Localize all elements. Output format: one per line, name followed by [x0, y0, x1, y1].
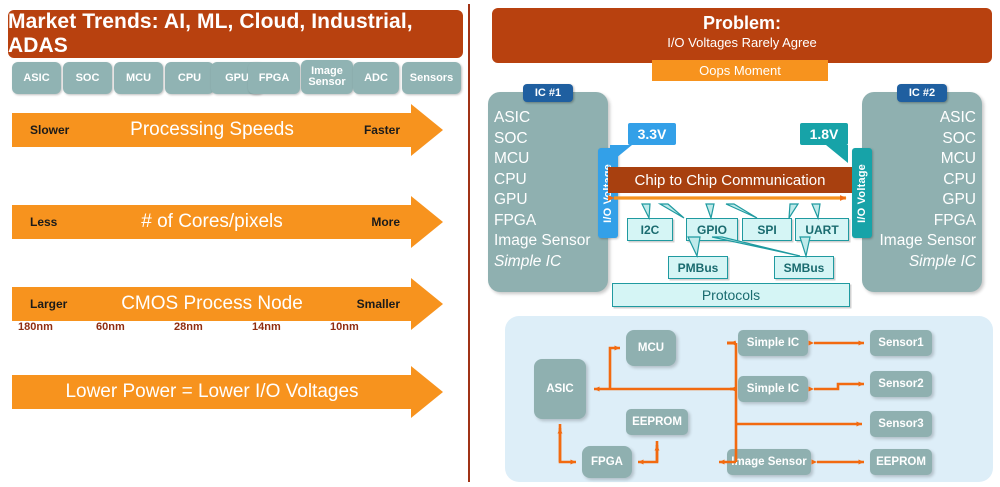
block-asic: ASIC: [534, 359, 586, 419]
ic2-badge: IC #2: [897, 84, 947, 102]
protocols-summary-box: Protocols: [612, 283, 850, 307]
tech-chip-adc: ADC: [353, 62, 399, 94]
block-image-sensor: Image Sensor: [727, 449, 811, 475]
arrow-title: # of Cores/pixels: [12, 205, 412, 239]
ic2-item-simple-ic: Simple IC: [860, 252, 976, 273]
tech-chip-label: ASIC: [23, 73, 49, 84]
ic1-component-list: ASICSOCMCUCPUGPUFPGAImage SensorSimple I…: [494, 108, 610, 272]
chip-to-chip-bar: Chip to Chip Communication: [608, 167, 852, 193]
problem-subtitle: I/O Voltages Rarely Agree: [492, 34, 992, 51]
tech-chip-label: Sensors: [410, 73, 453, 84]
block-mcu: MCU: [626, 330, 676, 366]
arrow-right-label: More: [371, 205, 400, 239]
arrow-left-label: Less: [30, 205, 57, 239]
tech-chip-image-sensor: ImageSensor: [301, 60, 353, 94]
voltage-callout-right-tail: [826, 145, 848, 163]
arrow-left-label: Slower: [30, 113, 69, 147]
ic1-item-simple-ic: Simple IC: [494, 252, 610, 273]
protocol-box-uart: UART: [795, 218, 849, 241]
ic2-item-cpu: CPU: [860, 170, 976, 191]
protocol-box-gpio: GPIO: [686, 218, 738, 241]
tech-chip-asic: ASIC: [12, 62, 61, 94]
tech-chip-mcu: MCU: [114, 62, 163, 94]
market-trends-title: Market Trends: AI, ML, Cloud, Industrial…: [8, 10, 463, 58]
arrow-right-label: Faster: [364, 113, 400, 147]
arrow-title: CMOS Process Node: [12, 287, 412, 321]
ic2-io-voltage-label: I/O Voltage: [856, 164, 868, 223]
problem-title: Problem:: [492, 13, 992, 34]
process-node-value: 60nm: [96, 321, 125, 333]
trend-arrow-lower-power: Lower Power = Lower I/O Voltages: [12, 375, 446, 409]
ic1-badge: IC #1: [523, 84, 573, 102]
tech-chip-sensors: Sensors: [402, 62, 461, 94]
protocol-box-spi: SPI: [742, 218, 792, 241]
ic2-item-gpu: GPU: [860, 190, 976, 211]
block-fpga: FPGA: [582, 446, 632, 478]
block-sensor1: Sensor1: [870, 330, 932, 356]
ic2-item-soc: SOC: [860, 129, 976, 150]
voltage-callout-left-tail: [610, 145, 632, 163]
oops-moment-badge: Oops Moment: [652, 60, 828, 81]
ic1-item-fpga: FPGA: [494, 211, 610, 232]
arrow-head: [411, 366, 443, 418]
block-simple-ic-1: Simple IC: [738, 330, 808, 356]
block-simple-ic-2: Simple IC: [738, 376, 808, 402]
tech-chip-label: SOC: [76, 73, 100, 84]
ic1-item-asic: ASIC: [494, 108, 610, 129]
trend-arrow-cmos-process-node: CMOS Process NodeLargerSmaller: [12, 287, 446, 321]
trend-arrow-processing-speeds: Processing SpeedsSlowerFaster: [12, 113, 446, 147]
market-trends-header: Market Trends: AI, ML, Cloud, Industrial…: [8, 10, 463, 58]
tech-chip-label: MCU: [126, 73, 151, 84]
voltage-callout-left: 3.3V: [628, 123, 676, 145]
ic2-item-mcu: MCU: [860, 149, 976, 170]
tech-chip-soc: SOC: [63, 62, 112, 94]
slide-canvas: Market Trends: AI, ML, Cloud, Industrial…: [0, 0, 1000, 487]
tech-chip-label: GPU: [225, 73, 249, 84]
arrow-left-label: Larger: [30, 287, 67, 321]
process-node-value: 28nm: [174, 321, 203, 333]
ic1-item-cpu: CPU: [494, 170, 610, 191]
tech-chip-label: CPU: [178, 73, 201, 84]
problem-header: Problem: I/O Voltages Rarely Agree: [492, 8, 992, 63]
process-node-value: 14nm: [252, 321, 281, 333]
trend-arrow-cores-pixels: # of Cores/pixelsLessMore: [12, 205, 446, 239]
process-node-value: 10nm: [330, 321, 359, 333]
ic1-item-soc: SOC: [494, 129, 610, 150]
ic1-item-gpu: GPU: [494, 190, 610, 211]
process-node-value: 180nm: [18, 321, 53, 333]
column-divider: [468, 4, 470, 482]
protocol-box-smbus: SMBus: [774, 256, 834, 279]
tech-chip-fpga: FPGA: [248, 62, 300, 94]
block-eeprom-left: EEPROM: [626, 409, 688, 435]
protocol-box-pmbus: PMBus: [668, 256, 728, 279]
technology-chip-row: ASICSOCMCUCPUGPUFPGAImageSensorADCSensor…: [8, 62, 468, 96]
ic2-io-voltage-bar: I/O Voltage: [852, 148, 872, 238]
protocol-box-i2c: I2C: [627, 218, 673, 241]
block-sensor3: Sensor3: [870, 411, 932, 437]
process-node-scale: 180nm60nm28nm14nm10nm: [12, 321, 412, 339]
arrow-right-label: Smaller: [357, 287, 400, 321]
voltage-callout-right: 1.8V: [800, 123, 848, 145]
ic2-item-asic: ASIC: [860, 108, 976, 129]
arrow-title: Lower Power = Lower I/O Voltages: [12, 375, 412, 409]
block-sensor2: Sensor2: [870, 371, 932, 397]
arrow-title: Processing Speeds: [12, 113, 412, 147]
tech-chip-label: Sensor: [308, 77, 345, 88]
arrow-head: [411, 104, 443, 156]
tech-chip-cpu: CPU: [165, 62, 214, 94]
tech-chip-label: FPGA: [259, 73, 290, 84]
block-eeprom-right: EEPROM: [870, 449, 932, 475]
ic1-item-mcu: MCU: [494, 149, 610, 170]
arrow-head: [411, 196, 443, 248]
tech-chip-label: ADC: [364, 73, 388, 84]
arrow-head: [411, 278, 443, 330]
chip-to-chip-label: Chip to Chip Communication: [635, 172, 826, 189]
ic2-item-image-sensor: Image Sensor: [860, 231, 976, 252]
ic1-item-image-sensor: Image Sensor: [494, 231, 610, 252]
ic2-component-list: ASICSOCMCUCPUGPUFPGAImage SensorSimple I…: [860, 108, 976, 272]
ic2-item-fpga: FPGA: [860, 211, 976, 232]
